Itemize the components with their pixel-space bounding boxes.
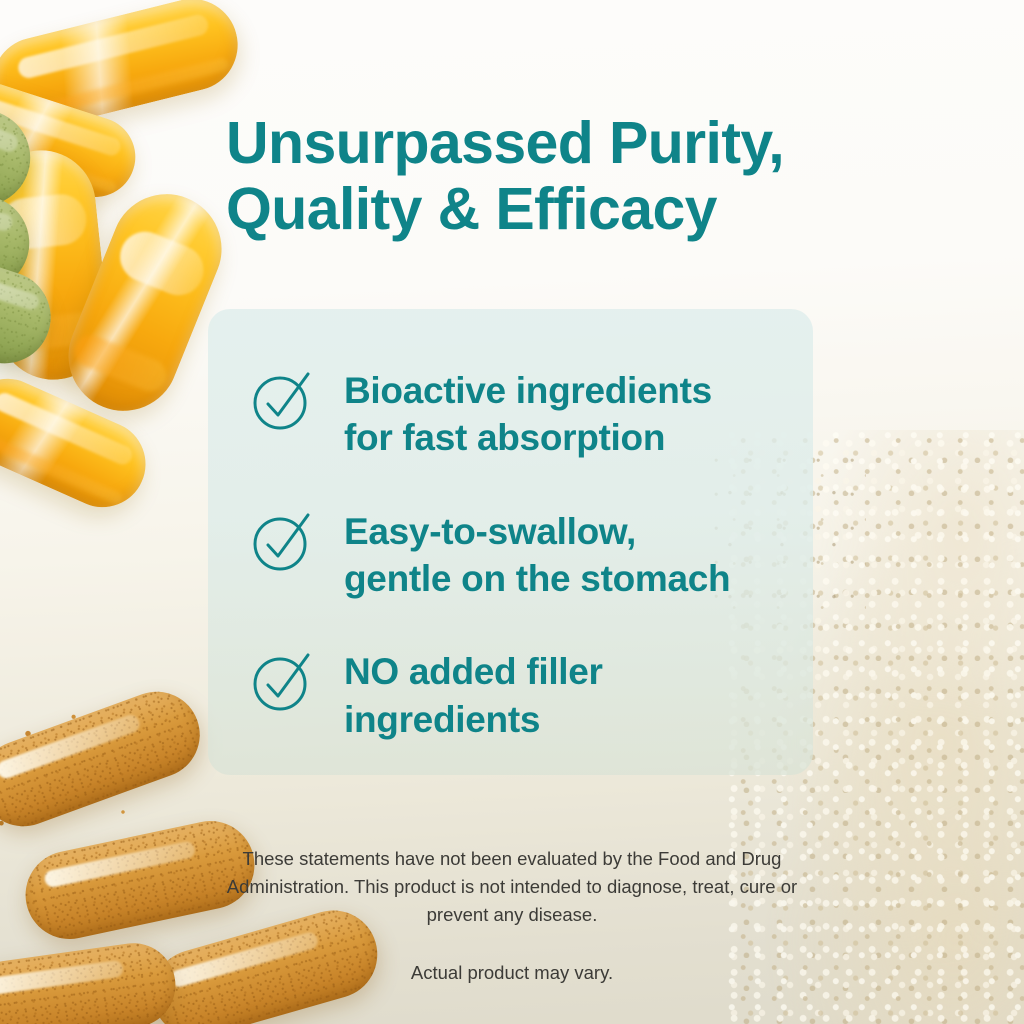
list-item: Bioactive ingredients for fast absorptio… (250, 365, 785, 462)
benefit-3-line-2: ingredients (344, 696, 603, 743)
product-variation-note: Actual product may vary. (218, 959, 806, 987)
list-item-label: Easy-to-swallow, gentle on the stomach (344, 506, 730, 603)
fda-disclaimer-text: These statements have not been evaluated… (227, 848, 797, 925)
softgel-capsule (0, 145, 114, 385)
green-capsule (0, 217, 63, 376)
check-circle-icon (250, 508, 316, 574)
turmeric-capsule (0, 938, 181, 1024)
benefit-1-line-1: Bioactive ingredients (344, 370, 712, 411)
benefit-2-line-2: gentle on the stomach (344, 555, 730, 602)
check-circle-icon (250, 648, 316, 714)
list-item: NO added filler ingredients (250, 646, 785, 743)
page-title: Unsurpassed Purity, Quality & Efficacy (226, 110, 826, 242)
green-capsule (0, 36, 45, 221)
headline-line-1: Unsurpassed Purity, (226, 110, 784, 176)
green-capsule (0, 168, 35, 296)
check-circle-icon (250, 367, 316, 433)
turmeric-powder-crumbs (0, 700, 180, 840)
disclaimer: These statements have not been evaluated… (218, 845, 806, 987)
benefits-card: Bioactive ingredients for fast absorptio… (208, 309, 813, 775)
promo-image: Unsurpassed Purity, Quality & Efficacy B… (0, 0, 1024, 1024)
benefit-2-line-1: Easy-to-swallow, (344, 511, 636, 552)
headline-line-2: Quality & Efficacy (226, 176, 826, 242)
benefit-1-line-2: for fast absorption (344, 414, 712, 461)
softgel-capsule (0, 73, 146, 208)
list-item-label: NO added filler ingredients (344, 646, 603, 743)
softgel-capsule (0, 0, 247, 139)
turmeric-capsule (0, 680, 212, 839)
benefits-list: Bioactive ingredients for fast absorptio… (208, 309, 813, 775)
benefit-3-line-1: NO added filler (344, 651, 603, 692)
softgel-capsule (0, 365, 159, 521)
list-item-label: Bioactive ingredients for fast absorptio… (344, 365, 712, 462)
list-item: Easy-to-swallow, gentle on the stomach (250, 506, 785, 603)
